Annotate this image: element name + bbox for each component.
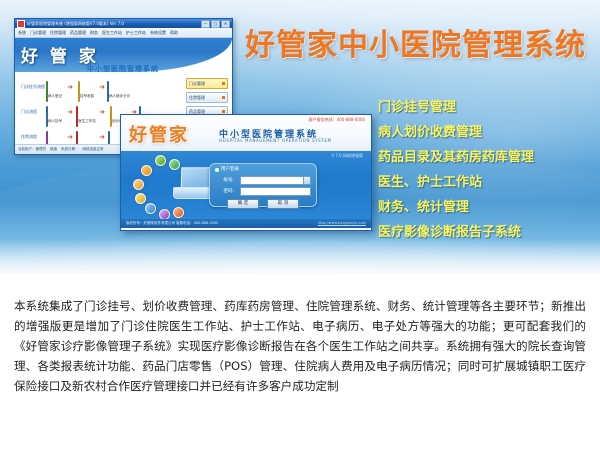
- status-current-user: 当前用户：管理员: [18, 145, 46, 154]
- workflow-row-label: 住院流程: [21, 132, 43, 142]
- flask-icon: [135, 193, 146, 204]
- feature-item: 病人划价收费管理: [378, 126, 593, 140]
- pill-icon: [141, 165, 152, 176]
- chevron-down-icon[interactable]: [303, 177, 310, 184]
- workflow-node-label: 挂号收费: [80, 94, 94, 98]
- login-header: 好管家 中小型医院管理系统 HOSPITAL MANAGEMENT OPERAT…: [121, 115, 371, 151]
- menu-item-finance[interactable]: 财务: [90, 28, 98, 37]
- folder-icon: [145, 203, 156, 214]
- globe-icon: [173, 207, 184, 218]
- menu-item-doctor-station[interactable]: 医生工作站: [102, 28, 122, 37]
- login-body: V 7.0 网络增强版 用户登录: [121, 151, 371, 219]
- arrow-right-icon: ➜: [97, 132, 107, 142]
- chevron-right-icon: [222, 82, 225, 85]
- cancel-button[interactable]: 取 消: [267, 199, 299, 209]
- login-version-label: V 7.0 网络增强版: [331, 153, 363, 159]
- menu-item-settings[interactable]: 系统设置: [150, 28, 166, 37]
- arrow-right-icon: ➜: [65, 107, 75, 117]
- menu-item-outpatient[interactable]: 门诊管理: [30, 28, 46, 37]
- account-row: 帐号：: [215, 176, 311, 185]
- password-label: 密码：: [215, 188, 237, 195]
- status-network: 网络连接正常: [83, 145, 104, 154]
- app-subtitle-text: 中小型医院管理系统: [87, 64, 159, 74]
- login-form-title: 用户登录: [221, 167, 239, 173]
- page-title: 好管家中小医院管理系统: [245, 20, 586, 64]
- doctor-station-icon: [76, 106, 78, 127]
- workflow-node[interactable]: 病人挂号: [43, 107, 65, 126]
- workflow-node[interactable]: 医生工作站: [75, 107, 97, 126]
- side-menu-label: 门诊管理: [189, 79, 205, 88]
- workflow-row-label: 门诊流程: [21, 107, 43, 117]
- menu-item-nurse-station[interactable]: 护士工作站: [126, 28, 146, 37]
- workflow-node-label: 病人登记: [48, 94, 62, 98]
- menu-bar[interactable]: 系统 门诊管理 住院管理 药品管理 财务 医生工作站 护士工作站 系统设置 帮助: [15, 28, 232, 38]
- workflow-node-label: 病人挂号: [48, 119, 62, 123]
- side-menu-item-outpatient[interactable]: 门诊管理: [186, 78, 228, 89]
- feature-item: 财务、统计管理: [378, 201, 593, 215]
- feature-item: 医生、护士工作站: [378, 176, 593, 190]
- arrow-right-icon: ➜: [97, 107, 107, 117]
- workflow-node-label: 病人就诊分诊: [109, 94, 130, 98]
- status-date: 系统日期：: [61, 145, 79, 154]
- login-title-en: HOSPITAL MANAGEMENT OPERATION SYSTEM: [219, 138, 332, 143]
- pin-icon: [155, 155, 166, 166]
- login-logo-text: 好管家: [129, 121, 189, 147]
- login-form-header: 用户登录: [215, 167, 311, 173]
- pricing-charge-icon: [110, 106, 112, 127]
- workflow-row: 门诊挂号流程 病人登记 ➜ 挂号收费 ➜ 病人就诊分诊: [21, 82, 171, 101]
- page-root: 好管家中小医院管理系统 门诊挂号管理 病人划价收费管理 药品目录及其药房药库管理…: [0, 0, 600, 450]
- triage-icon: [107, 81, 109, 102]
- arrow-right-icon: ➜: [65, 132, 75, 142]
- side-menu-label: 住院管理: [189, 93, 205, 102]
- user-icon: [215, 168, 219, 172]
- ok-button[interactable]: 确 定: [227, 199, 259, 209]
- maximize-icon[interactable]: □: [211, 20, 220, 28]
- menu-item-drugs[interactable]: 药品管理: [70, 28, 86, 37]
- workflow-node[interactable]: 挂号收费: [75, 82, 97, 101]
- registration-fee-icon: [78, 81, 80, 102]
- workflow-node-label: 医生工作站: [78, 119, 96, 123]
- side-menu-item-inpatient[interactable]: 住院管理: [186, 92, 228, 103]
- account-label: 帐号：: [215, 177, 237, 184]
- app-window-login-screenshot[interactable]: 好管家 中小型医院管理系统 HOSPITAL MANAGEMENT OPERAT…: [120, 114, 372, 231]
- login-footer-url[interactable]: http://www.haoguanjia.com: [318, 219, 366, 228]
- menu-item-help[interactable]: 帮助: [170, 28, 178, 37]
- close-icon[interactable]: ✕: [221, 20, 230, 28]
- login-footer-copyright: 版权所有：好管家软件有限公司 客服电话：400-888-0000: [126, 219, 218, 228]
- window-titlebar[interactable]: 好管家医院管理系统 (增强版网络版V7.0版本) Ver 7.0 ─ □ ✕: [15, 19, 232, 28]
- arrow-right-icon: ➜: [65, 82, 75, 92]
- app-icon: [17, 20, 25, 28]
- status-ready: 就绪: [50, 145, 57, 154]
- leaf-icon: [169, 159, 180, 170]
- patient-registration-icon: [46, 106, 48, 127]
- workflow-node[interactable]: 病人登记: [43, 82, 65, 101]
- chevron-right-icon: [222, 96, 225, 99]
- feature-item: 门诊挂号管理: [378, 101, 593, 115]
- feature-icon-ring: [131, 157, 187, 213]
- mail-icon: [133, 179, 144, 190]
- minimize-icon[interactable]: ─: [201, 20, 210, 28]
- menu-item-inpatient[interactable]: 住院管理: [50, 28, 66, 37]
- window-title: 好管家医院管理系统 (增强版网络版V7.0版本) Ver 7.0: [27, 19, 201, 28]
- login-form-buttons: 确 定 取 消: [215, 199, 311, 209]
- password-row: 密码：: [215, 187, 311, 196]
- window-controls[interactable]: ─ □ ✕: [201, 20, 230, 28]
- login-form[interactable]: 用户登录 帐号： 密码： 确 定 取 消: [209, 163, 317, 207]
- arrow-right-icon: ➜: [97, 82, 107, 92]
- feature-item: 医疗影像诊断报告子系统: [378, 226, 593, 240]
- printer-icon: [159, 209, 170, 219]
- login-hotline: 客户服务热线：400-888-0000: [309, 117, 365, 123]
- menu-item-system[interactable]: 系统: [18, 28, 26, 37]
- chevron-right-icon: [222, 110, 225, 113]
- account-input[interactable]: [240, 176, 311, 185]
- patient-register-icon: [46, 81, 48, 102]
- password-input[interactable]: [240, 187, 311, 196]
- product-description: 本系统集成了门诊挂号、划价收费管理、药库药房管理、住院管理系统、财务、统计管理等…: [14, 296, 586, 396]
- feature-list: 门诊挂号管理 病人划价收费管理 药品目录及其药房药库管理 医生、护士工作站 财务…: [378, 101, 593, 251]
- login-footer: 版权所有：好管家软件有限公司 客服电话：400-888-0000 http://…: [121, 219, 371, 228]
- workflow-node[interactable]: 病人就诊分诊: [107, 82, 129, 101]
- feature-item: 药品目录及其药房药库管理: [378, 151, 593, 165]
- workflow-row-label: 门诊挂号流程: [21, 82, 43, 92]
